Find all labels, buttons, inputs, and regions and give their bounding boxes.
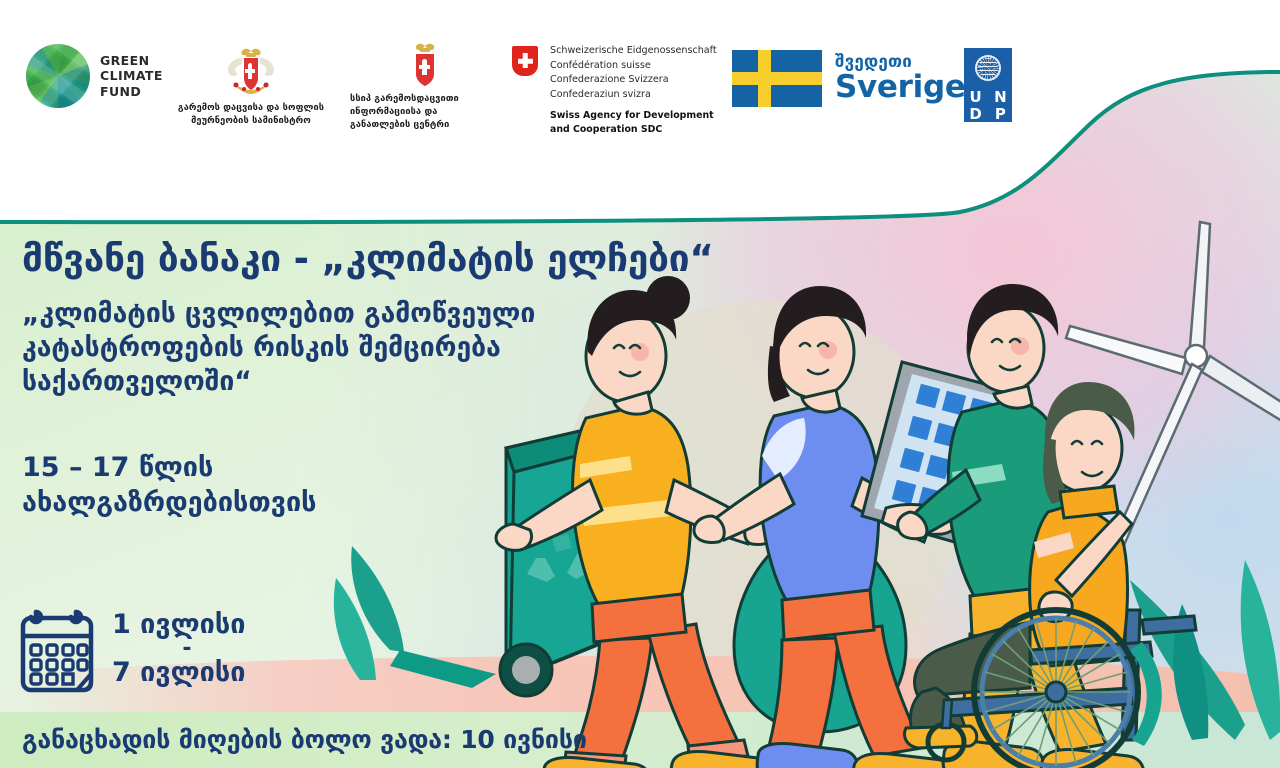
event-dates: 1 ივლისი - 7 ივლისი <box>112 610 262 688</box>
poster-title: მწვანე ბანაკი - „კლიმატის ელჩები“ <box>22 238 922 279</box>
age-line-1: 15 – 17 წლის <box>22 450 482 485</box>
date-dash: - <box>112 640 262 658</box>
calendar-icon <box>18 604 96 694</box>
age-line-2: ახალგაზრდებისთვის <box>22 485 482 520</box>
age-requirement: 15 – 17 წლის ახალგაზრდებისთვის <box>22 450 482 520</box>
poster-root: GREEN CLIMATE FUND <box>0 0 1280 768</box>
event-date-block: 1 ივლისი - 7 ივლისი <box>18 604 262 694</box>
poster-content: მწვანე ბანაკი - „კლიმატის ელჩები“ „კლიმა… <box>0 0 1280 768</box>
application-deadline: განაცხადის მიღების ბოლო ვადა: 10 ივნისი <box>22 726 587 754</box>
date-end: 7 ივლისი <box>112 658 262 688</box>
poster-subtitle: „კლიმატის ცვლილებით გამოწვეული კატასტროფ… <box>22 297 672 399</box>
